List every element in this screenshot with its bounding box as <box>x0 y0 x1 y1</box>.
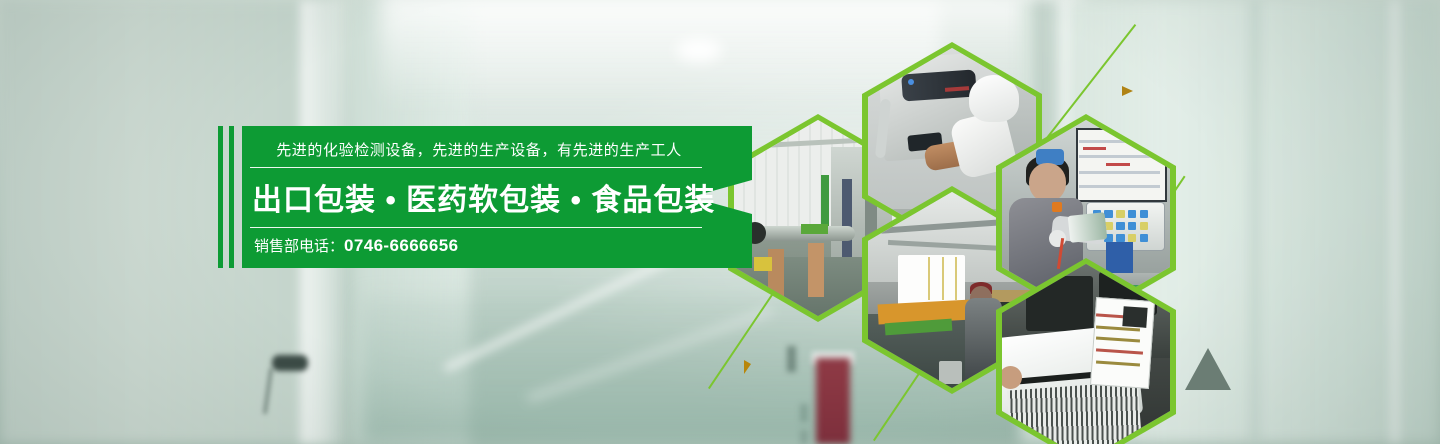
panel-content: 先进的化验检测设备，先进的生产设备，有先进的生产工人 出口包装 • 医药软包装 … <box>250 126 702 268</box>
panel-tagline: 先进的化验检测设备，先进的生产设备，有先进的生产工人 <box>250 139 702 167</box>
phone-label: 销售部电话： <box>254 238 344 255</box>
promo-banner: 先进的化验检测设备，先进的生产设备，有先进的生产工人 出口包装 • 医药软包装 … <box>0 0 1440 444</box>
panel-accent-stripe-1 <box>218 126 223 268</box>
panel-headline: 出口包装 • 医药软包装 • 食品包装 <box>250 168 702 227</box>
phone-number[interactable]: 0746-6666656 <box>344 236 458 255</box>
panel-phone: 销售部电话：0746-6666656 <box>250 228 702 256</box>
panel-accent-stripe-2 <box>229 126 234 268</box>
hexagon-photo-cluster <box>728 28 1128 428</box>
